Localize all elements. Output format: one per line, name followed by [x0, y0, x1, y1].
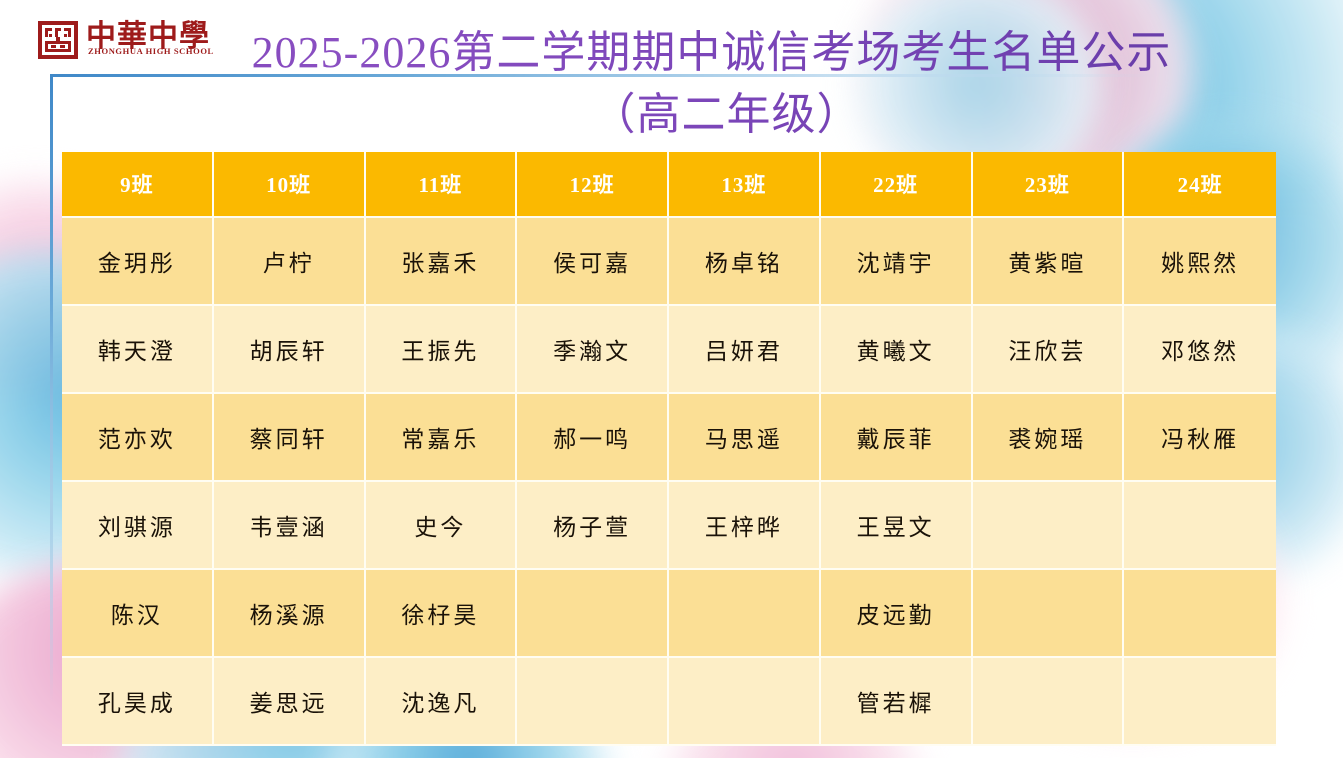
table-row: 孔昊成姜思远沈逸凡管若樨	[62, 658, 1276, 746]
student-name-cell: 韦壹涵	[214, 482, 366, 570]
empty-cell	[669, 570, 821, 658]
student-name-cell: 邓悠然	[1124, 306, 1276, 394]
student-name-cell: 姚熙然	[1124, 218, 1276, 306]
student-name-table-container: 9班10班11班12班13班22班23班24班 金玥彤卢柠张嘉禾侯可嘉杨卓铭沈靖…	[62, 152, 1276, 746]
student-name-cell: 金玥彤	[62, 218, 214, 306]
student-name-table: 9班10班11班12班13班22班23班24班 金玥彤卢柠张嘉禾侯可嘉杨卓铭沈靖…	[62, 152, 1276, 746]
student-name-cell: 沈逸凡	[366, 658, 518, 746]
student-name-cell: 蔡同轩	[214, 394, 366, 482]
student-name-cell: 王梓晔	[669, 482, 821, 570]
empty-cell	[517, 658, 669, 746]
student-name-cell: 张嘉禾	[366, 218, 518, 306]
student-name-cell: 皮远勤	[821, 570, 973, 658]
student-name-cell: 孔昊成	[62, 658, 214, 746]
table-column-header: 23班	[973, 152, 1125, 218]
student-name-cell: 史今	[366, 482, 518, 570]
student-name-cell: 冯秋雁	[1124, 394, 1276, 482]
table-row: 刘骐源韦壹涵史今杨子萱王梓晔王昱文	[62, 482, 1276, 570]
student-name-cell: 郝一鸣	[517, 394, 669, 482]
student-name-cell: 沈靖宇	[821, 218, 973, 306]
table-row: 范亦欢蔡同轩常嘉乐郝一鸣马思遥戴辰菲裘婉瑶冯秋雁	[62, 394, 1276, 482]
table-column-header: 24班	[1124, 152, 1276, 218]
table-column-header: 10班	[214, 152, 366, 218]
table-row: 韩天澄胡辰轩王振先季瀚文吕妍君黄曦文汪欣芸邓悠然	[62, 306, 1276, 394]
student-name-cell: 杨溪源	[214, 570, 366, 658]
student-name-cell: 陈汉	[62, 570, 214, 658]
table-column-header: 13班	[669, 152, 821, 218]
empty-cell	[973, 658, 1125, 746]
student-name-cell: 杨卓铭	[669, 218, 821, 306]
empty-cell	[973, 482, 1125, 570]
table-column-header: 9班	[62, 152, 214, 218]
table-body: 金玥彤卢柠张嘉禾侯可嘉杨卓铭沈靖宇黄紫暄姚熙然韩天澄胡辰轩王振先季瀚文吕妍君黄曦…	[62, 218, 1276, 746]
student-name-cell: 姜思远	[214, 658, 366, 746]
student-name-cell: 黄曦文	[821, 306, 973, 394]
table-column-header: 12班	[517, 152, 669, 218]
table-column-header: 11班	[366, 152, 518, 218]
empty-cell	[517, 570, 669, 658]
student-name-cell: 管若樨	[821, 658, 973, 746]
table-column-header: 22班	[821, 152, 973, 218]
empty-cell	[1124, 658, 1276, 746]
student-name-cell: 黄紫暄	[973, 218, 1125, 306]
student-name-cell: 卢柠	[214, 218, 366, 306]
student-name-cell: 徐杍昊	[366, 570, 518, 658]
student-name-cell: 胡辰轩	[214, 306, 366, 394]
empty-cell	[1124, 570, 1276, 658]
empty-cell	[973, 570, 1125, 658]
student-name-cell: 汪欣芸	[973, 306, 1125, 394]
student-name-cell: 杨子萱	[517, 482, 669, 570]
page-title-line1: 2025-2026第二学期期中诚信考场考生名单公示	[0, 16, 1343, 80]
student-name-cell: 吕妍君	[669, 306, 821, 394]
frame-left-line	[50, 74, 53, 730]
student-name-cell: 马思遥	[669, 394, 821, 482]
empty-cell	[1124, 482, 1276, 570]
student-name-cell: 季瀚文	[517, 306, 669, 394]
page-title-line2: （高二年级）	[0, 78, 1343, 142]
table-row: 陈汉杨溪源徐杍昊皮远勤	[62, 570, 1276, 658]
student-name-cell: 戴辰菲	[821, 394, 973, 482]
table-row: 金玥彤卢柠张嘉禾侯可嘉杨卓铭沈靖宇黄紫暄姚熙然	[62, 218, 1276, 306]
empty-cell	[669, 658, 821, 746]
student-name-cell: 范亦欢	[62, 394, 214, 482]
student-name-cell: 韩天澄	[62, 306, 214, 394]
student-name-cell: 刘骐源	[62, 482, 214, 570]
table-header-row: 9班10班11班12班13班22班23班24班	[62, 152, 1276, 218]
student-name-cell: 侯可嘉	[517, 218, 669, 306]
student-name-cell: 王振先	[366, 306, 518, 394]
student-name-cell: 王昱文	[821, 482, 973, 570]
student-name-cell: 常嘉乐	[366, 394, 518, 482]
student-name-cell: 裘婉瑶	[973, 394, 1125, 482]
